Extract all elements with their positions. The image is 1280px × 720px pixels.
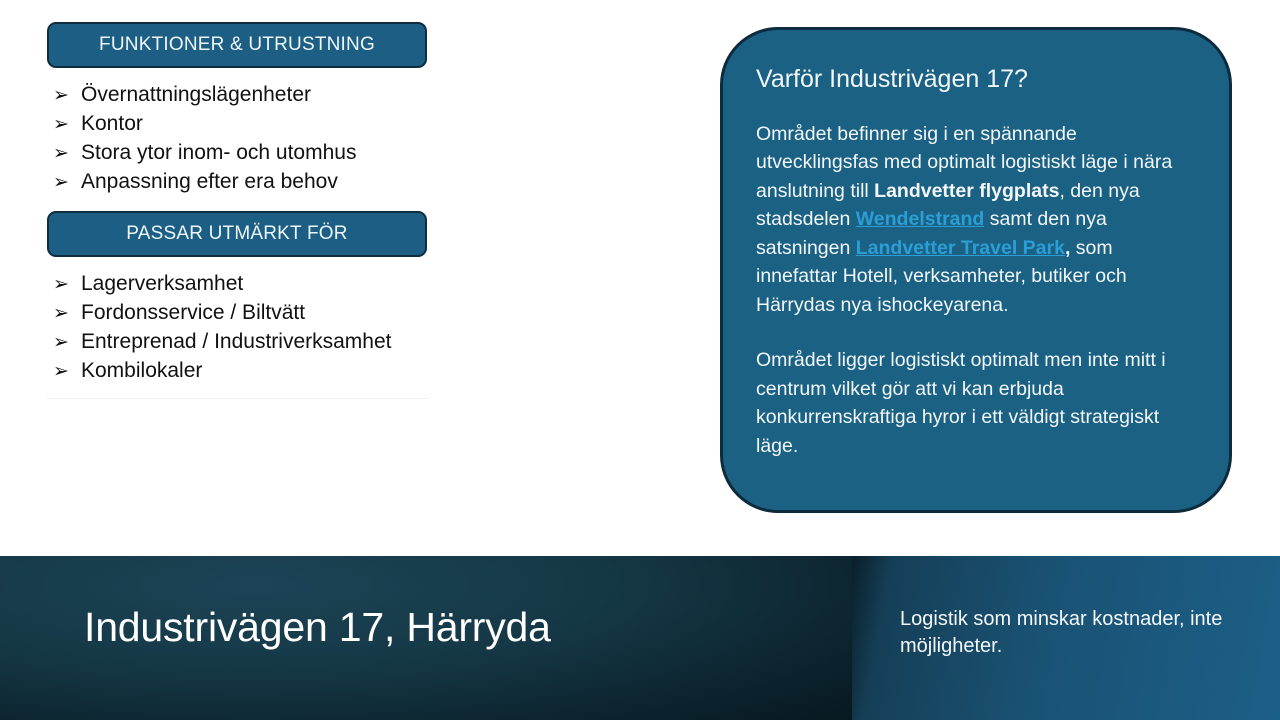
list-item-label: Kontor [81, 110, 143, 139]
list-item: ➢ Entreprenad / Industriverksamhet [47, 328, 447, 357]
list-item-label: Entreprenad / Industriverksamhet [81, 328, 392, 357]
info-panel-paragraph-one: Området befinner sig i en spännande utve… [756, 120, 1196, 319]
section-heading-passar-label: PASSAR UTMÄRKT FÖR [126, 223, 347, 245]
banner-tagline: Logistik som minskar kostnader, inte möj… [900, 606, 1240, 661]
list-item: ➢ Kombilokaler [47, 357, 447, 386]
section-heading-funktioner: FUNKTIONER & UTRUSTNING [47, 22, 427, 68]
list-item: ➢ Lagerverksamhet [47, 270, 447, 299]
section-heading-funktioner-label: FUNKTIONER & UTRUSTNING [99, 34, 375, 56]
banner-title: Industrivägen 17, Härryda [84, 604, 551, 651]
bold-landvetter-flygplats: Landvetter flygplats [874, 180, 1059, 202]
list-item: ➢ Övernattningslägenheter [47, 81, 447, 110]
arrow-bullet-icon: ➢ [47, 112, 81, 138]
list-item: ➢ Kontor [47, 110, 447, 139]
arrow-bullet-icon: ➢ [47, 170, 81, 196]
bottom-banner: Industrivägen 17, Härryda Logistik som m… [0, 556, 1280, 720]
list-item: ➢ Fordonsservice / Biltvätt [47, 299, 447, 328]
spacer [47, 197, 447, 211]
arrow-bullet-icon: ➢ [47, 83, 81, 109]
list-item: ➢ Stora ytor inom- och utomhus [47, 139, 447, 168]
arrow-bullet-icon: ➢ [47, 359, 81, 385]
banner-left-panel: Industrivägen 17, Härryda [0, 556, 852, 720]
info-panel-paragraph-two: Området ligger logistiskt optimalt men i… [756, 346, 1196, 460]
feature-list-passar: ➢ Lagerverksamhet ➢ Fordonsservice / Bil… [47, 270, 447, 386]
info-panel-title: Varför Industrivägen 17? [756, 64, 1196, 94]
list-item: ➢ Anpassning efter era behov [47, 168, 447, 197]
link-wendelstrand[interactable]: Wendelstrand [856, 208, 985, 230]
list-item-label: Kombilokaler [81, 357, 202, 386]
banner-right-panel: Logistik som minskar kostnader, inte möj… [852, 556, 1280, 720]
list-item-label: Anpassning efter era behov [81, 168, 338, 197]
arrow-bullet-icon: ➢ [47, 301, 81, 327]
info-panel: Varför Industrivägen 17? Området befinne… [720, 27, 1232, 513]
list-item-label: Fordonsservice / Biltvätt [81, 299, 305, 328]
arrow-bullet-icon: ➢ [47, 141, 81, 167]
feature-list-funktioner: ➢ Övernattningslägenheter ➢ Kontor ➢ Sto… [47, 81, 447, 197]
list-item-label: Lagerverksamhet [81, 270, 243, 299]
link-landvetter-travel-park[interactable]: Landvetter Travel Park [856, 237, 1065, 259]
arrow-bullet-icon: ➢ [47, 330, 81, 356]
arrow-bullet-icon: ➢ [47, 272, 81, 298]
left-content-column: FUNKTIONER & UTRUSTNING ➢ Övernattningsl… [47, 22, 447, 399]
list-item-label: Stora ytor inom- och utomhus [81, 139, 356, 168]
list-item-label: Övernattningslägenheter [81, 81, 311, 110]
section-heading-passar: PASSAR UTMÄRKT FÖR [47, 211, 427, 257]
divider [47, 398, 429, 399]
